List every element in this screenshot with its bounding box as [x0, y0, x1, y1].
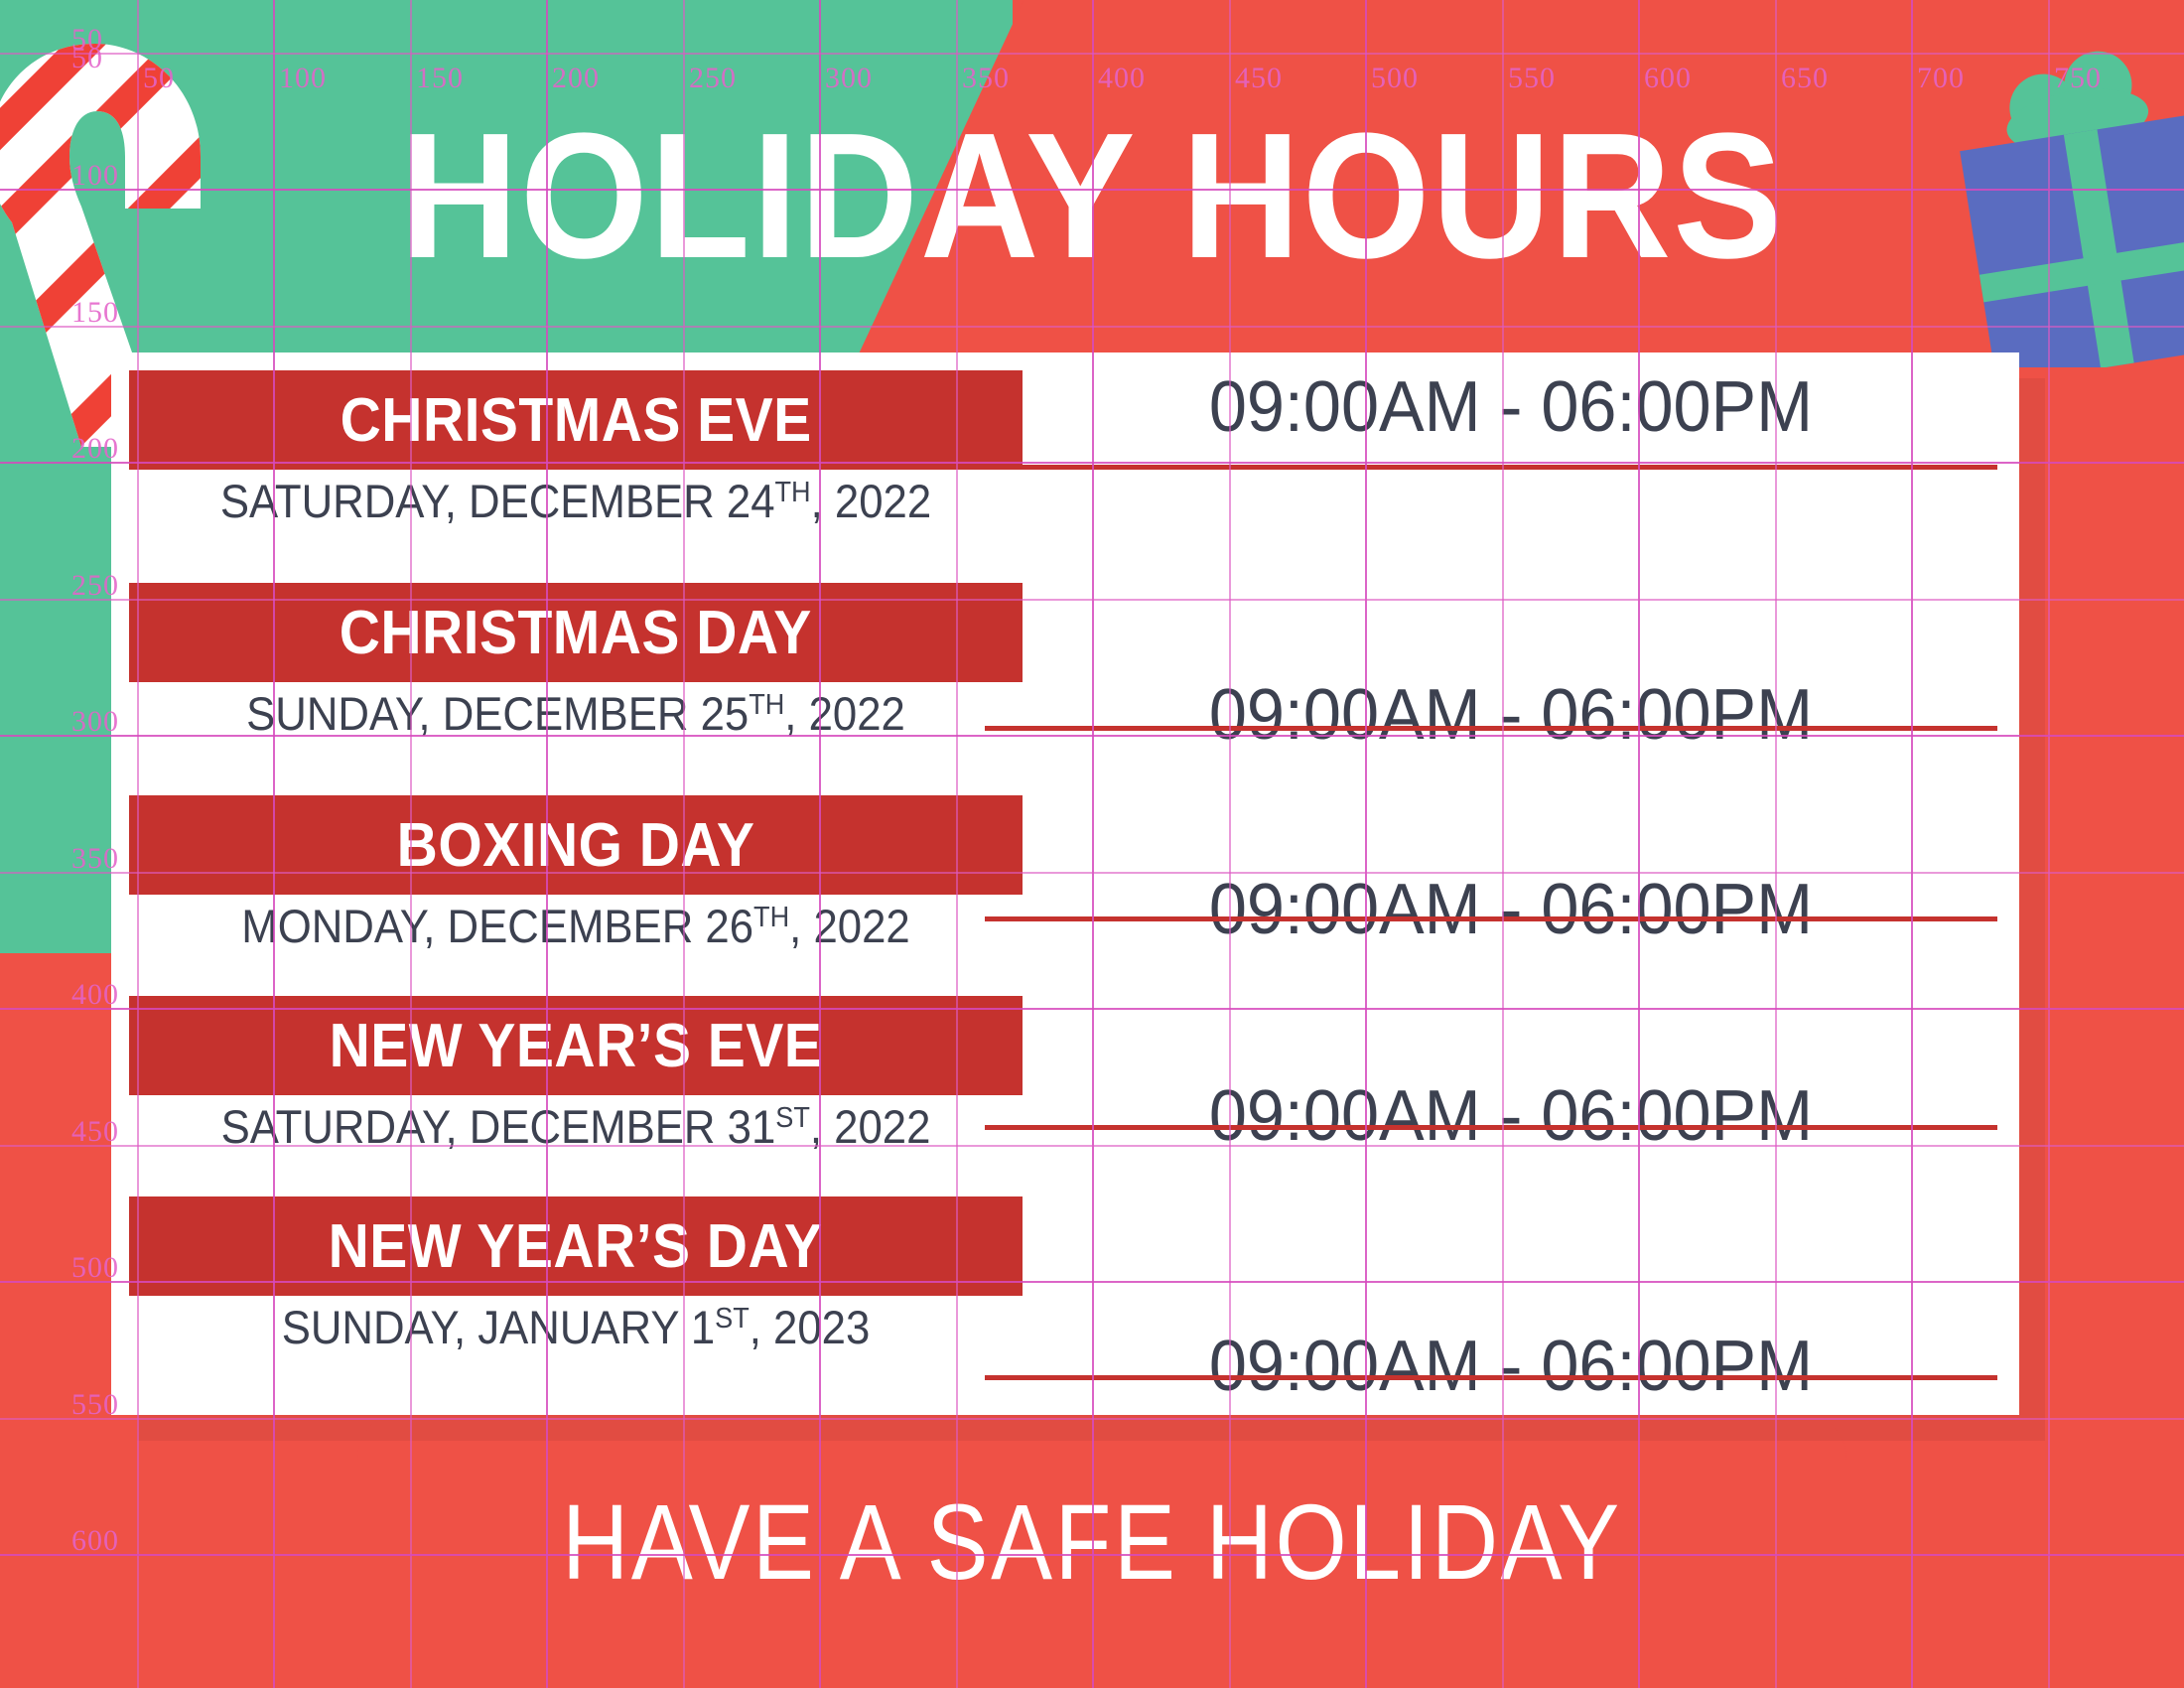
row-left-column: BOXING DAY MONDAY, DECEMBER 26TH, 2022	[129, 777, 1042, 990]
holiday-date: SATURDAY, DECEMBER 24TH, 2022	[161, 474, 992, 528]
holiday-name-bar: BOXING DAY	[129, 795, 1023, 895]
row-divider	[985, 726, 1997, 731]
row-left-column: CHRISTMAS EVE SATURDAY, DECEMBER 24TH, 2…	[129, 352, 1042, 565]
holiday-name: BOXING DAY	[397, 810, 755, 881]
holiday-hours: 09:00AM - 06:00PM	[1087, 366, 1936, 448]
holiday-date-prefix: SUNDAY, JANUARY 1	[282, 1301, 715, 1353]
holiday-name-bar: CHRISTMAS EVE	[129, 370, 1023, 470]
holiday-date-ordinal: TH	[749, 689, 784, 721]
page-title: HOLIDAY HOURS	[87, 107, 2097, 286]
schedule-row: NEW YEAR’S DAY SUNDAY, JANUARY 1ST, 2023…	[111, 1179, 2019, 1391]
schedule-row: CHRISTMAS EVE SATURDAY, DECEMBER 24TH, 2…	[111, 352, 2019, 565]
row-left-column: NEW YEAR’S EVE SATURDAY, DECEMBER 31ST, …	[129, 978, 1042, 1191]
holiday-date-year: , 2022	[810, 1100, 931, 1153]
poster-canvas: HOLIDAY HOURS CHRISTMAS EVE SATURDAY, DE…	[0, 0, 2184, 1688]
row-left-column: NEW YEAR’S DAY SUNDAY, JANUARY 1ST, 2023	[129, 1179, 1042, 1391]
holiday-name: NEW YEAR’S EVE	[330, 1011, 823, 1081]
holiday-date-year: , 2023	[750, 1301, 871, 1353]
holiday-hours: 09:00AM - 06:00PM	[1087, 869, 1936, 950]
holiday-name: NEW YEAR’S DAY	[329, 1211, 823, 1282]
row-divider	[985, 1375, 1997, 1380]
holiday-date-year: , 2022	[811, 475, 932, 527]
holiday-date-ordinal: TH	[753, 902, 789, 933]
holiday-name-bar: NEW YEAR’S DAY	[129, 1196, 1023, 1296]
holiday-date-prefix: MONDAY, DECEMBER 26	[241, 900, 753, 952]
holiday-hours: 09:00AM - 06:00PM	[1087, 674, 1936, 756]
holiday-name: CHRISTMAS DAY	[340, 598, 812, 668]
holiday-name-bar: NEW YEAR’S EVE	[129, 996, 1023, 1095]
holiday-date: SUNDAY, DECEMBER 25TH, 2022	[161, 686, 992, 741]
holiday-date-prefix: SATURDAY, DECEMBER 31	[221, 1100, 776, 1153]
schedule-card: CHRISTMAS EVE SATURDAY, DECEMBER 24TH, 2…	[111, 352, 2019, 1415]
holiday-date-ordinal: TH	[775, 477, 811, 508]
holiday-date-prefix: SUNDAY, DECEMBER 25	[246, 687, 749, 740]
row-divider	[985, 465, 1997, 470]
footer-message: HAVE A SAFE HOLIDAY	[153, 1479, 2031, 1604]
holiday-date-year: , 2022	[784, 687, 905, 740]
holiday-hours: 09:00AM - 06:00PM	[1087, 1075, 1936, 1157]
holiday-date: SUNDAY, JANUARY 1ST, 2023	[161, 1300, 992, 1354]
holiday-name: CHRISTMAS EVE	[340, 385, 811, 456]
holiday-name-bar: CHRISTMAS DAY	[129, 583, 1023, 682]
holiday-date: SATURDAY, DECEMBER 31ST, 2022	[161, 1099, 992, 1154]
schedule-row: NEW YEAR’S EVE SATURDAY, DECEMBER 31ST, …	[111, 978, 2019, 1191]
holiday-date-prefix: SATURDAY, DECEMBER 24	[220, 475, 775, 527]
row-left-column: CHRISTMAS DAY SUNDAY, DECEMBER 25TH, 202…	[129, 565, 1042, 777]
holiday-date-year: , 2022	[789, 900, 910, 952]
holiday-date-ordinal: ST	[775, 1102, 810, 1134]
row-divider	[985, 916, 1997, 921]
schedule-row: CHRISTMAS DAY SUNDAY, DECEMBER 25TH, 202…	[111, 565, 2019, 777]
holiday-date-ordinal: ST	[715, 1303, 750, 1335]
row-divider	[985, 1125, 1997, 1130]
schedule-rows: CHRISTMAS EVE SATURDAY, DECEMBER 24TH, 2…	[111, 352, 2019, 1415]
schedule-row: BOXING DAY MONDAY, DECEMBER 26TH, 2022 0…	[111, 777, 2019, 990]
holiday-hours: 09:00AM - 06:00PM	[1087, 1326, 1936, 1407]
holiday-date: MONDAY, DECEMBER 26TH, 2022	[161, 899, 992, 953]
